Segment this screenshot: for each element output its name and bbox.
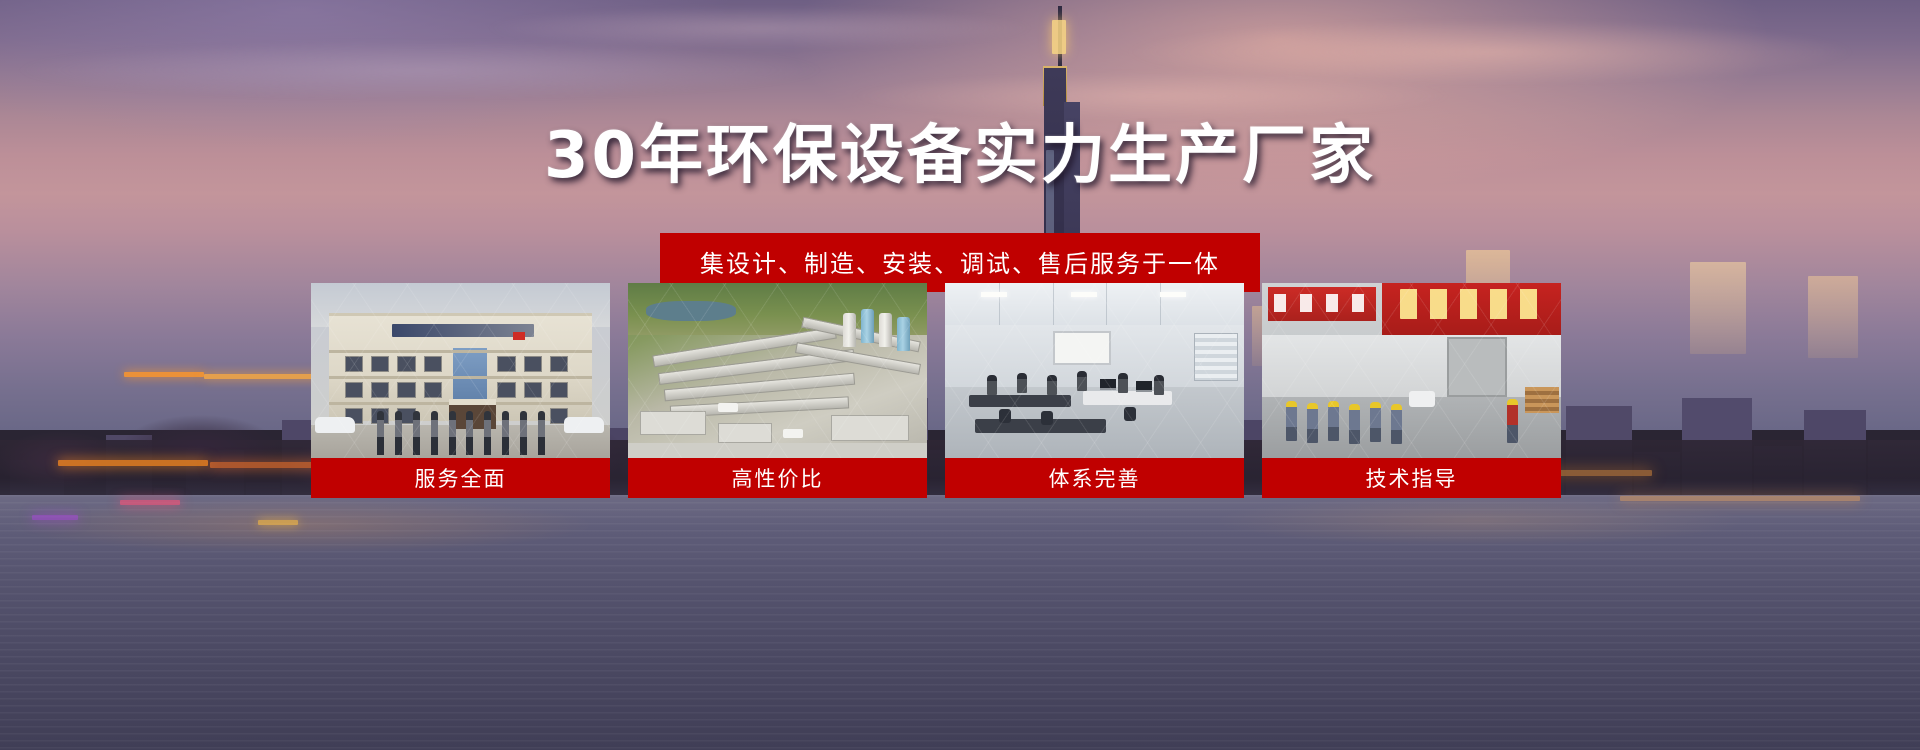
feature-card-caption: 服务全面	[311, 458, 610, 498]
feature-card-image	[628, 283, 927, 458]
feature-card-image	[945, 283, 1244, 458]
feature-card-image	[311, 283, 610, 458]
factory-banner-text	[1400, 289, 1544, 319]
feature-card-caption: 体系完善	[945, 458, 1244, 498]
hero-banner: 30年环保设备实力生产厂家 集设计、制造、安装、调试、售后服务于一体	[0, 0, 1920, 750]
feature-card[interactable]: 高性价比	[628, 283, 927, 498]
banner-content: 30年环保设备实力生产厂家 集设计、制造、安装、调试、售后服务于一体	[0, 0, 1920, 750]
feature-card[interactable]: 体系完善	[945, 283, 1244, 498]
feature-card[interactable]: 技术指导	[1262, 283, 1561, 498]
feature-card-image	[1262, 283, 1561, 458]
banner-headline: 30年环保设备实力生产厂家	[0, 104, 1920, 196]
feature-card-list: 服务全面	[311, 283, 1561, 498]
feature-card-caption: 技术指导	[1262, 458, 1561, 498]
feature-card-caption: 高性价比	[628, 458, 927, 498]
feature-card[interactable]: 服务全面	[311, 283, 610, 498]
